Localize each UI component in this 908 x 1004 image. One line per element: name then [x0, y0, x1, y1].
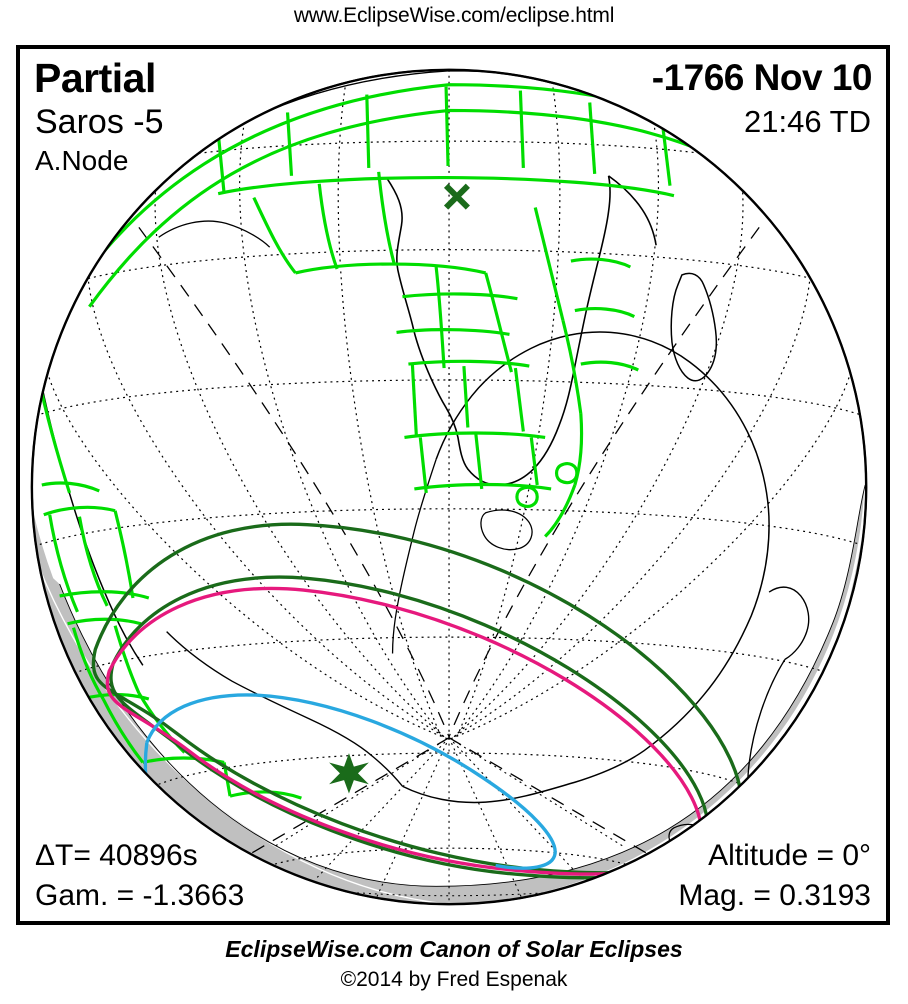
globe-map	[20, 49, 886, 921]
eclipse-time-label: 21:46 TD	[744, 104, 871, 140]
node-label: A.Node	[35, 145, 128, 177]
altitude-label: Altitude = 0°	[708, 839, 871, 873]
eclipse-type-label: Partial	[34, 55, 156, 102]
eclipse-chart-frame: Partial Saros -5 A.Node -1766 Nov 10 21:…	[16, 45, 890, 925]
delta-t-label: ΔT= 40896s	[35, 839, 198, 873]
canon-title: EclipseWise.com Canon of Solar Eclipses	[0, 936, 908, 963]
copyright-credit: ©2014 by Fred Espenak	[0, 968, 908, 992]
saros-label: Saros -5	[35, 103, 164, 142]
gamma-label: Gam. = -1.3663	[35, 879, 244, 913]
eclipse-map-page: www.EclipseWise.com/eclipse.html	[0, 0, 908, 1004]
magnitude-label: Mag. = 0.3193	[678, 879, 871, 913]
source-url: www.EclipseWise.com/eclipse.html	[0, 4, 908, 28]
eclipse-date-label: -1766 Nov 10	[652, 57, 872, 99]
max-eclipse-curve-tail	[145, 743, 146, 785]
